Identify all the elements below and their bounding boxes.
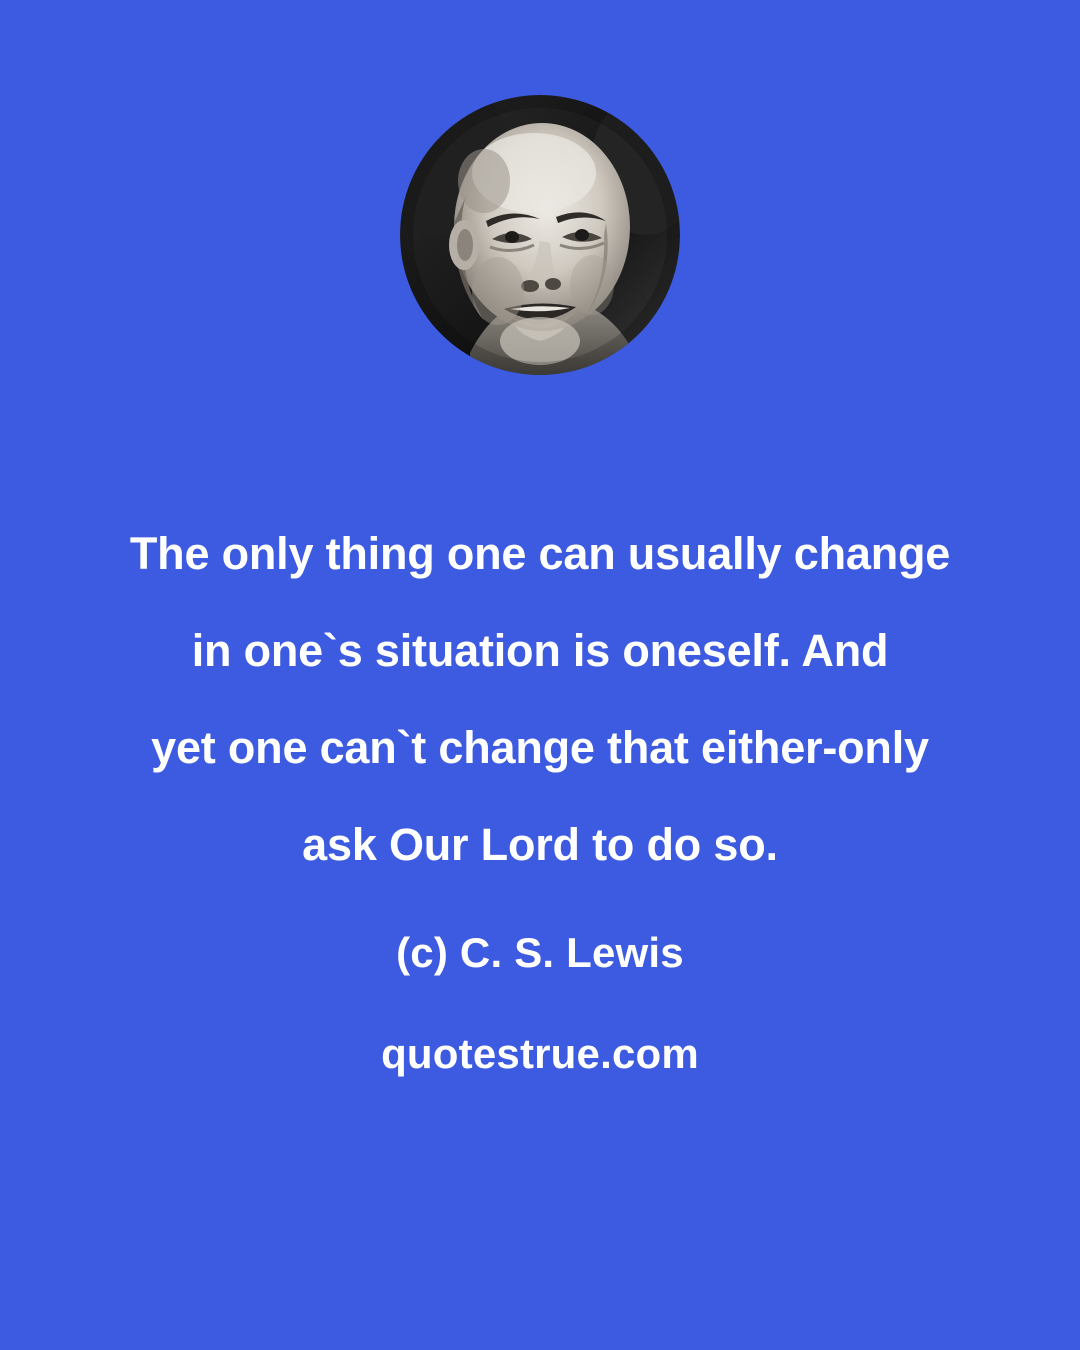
quote-line: ask Our Lord to do so. xyxy=(60,796,1020,893)
author-portrait xyxy=(400,95,680,375)
portrait-photo-icon xyxy=(400,95,680,375)
quote-attribution: (c) C. S. Lewis xyxy=(0,925,1080,981)
quote-text: The only thing one can usually change in… xyxy=(60,505,1020,893)
quote-line: in one`s situation is oneself. And xyxy=(60,602,1020,699)
quote-card: The only thing one can usually change in… xyxy=(0,0,1080,1350)
site-watermark: quotestrue.com xyxy=(0,1026,1080,1082)
quote-line: The only thing one can usually change xyxy=(60,505,1020,602)
quote-line: yet one can`t change that either-only xyxy=(60,699,1020,796)
